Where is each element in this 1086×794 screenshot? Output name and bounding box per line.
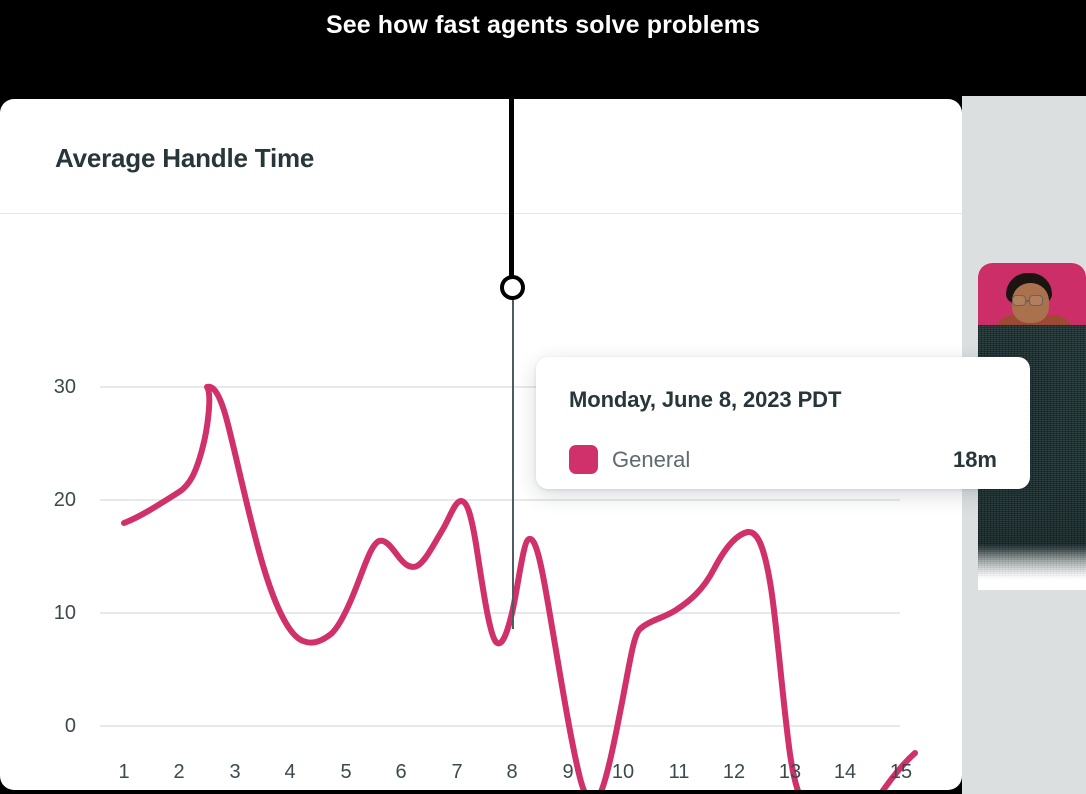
x-tick-14: 14: [825, 762, 865, 782]
x-tick-7: 7: [437, 762, 477, 782]
x-tick-13: 13: [770, 762, 810, 782]
portrait-glasses-right: [1029, 295, 1043, 306]
x-tick-10: 10: [603, 762, 643, 782]
x-tick-5: 5: [326, 762, 366, 782]
agent-portrait: [984, 271, 1080, 333]
chart-card-header: Average Handle Time: [0, 99, 962, 214]
x-tick-9: 9: [548, 762, 588, 782]
photo-bottom-fade: [978, 544, 1086, 590]
screenshot-root: Average Handle Time 30 20 10 0 1 2: [0, 0, 1086, 794]
banner-title: See how fast agents solve problems: [0, 8, 1086, 42]
chart-plot-area[interactable]: 30 20 10 0 1 2 3 4 5 6 7 8 9 10 11 12 13…: [0, 214, 962, 790]
y-tick-30: 30: [20, 377, 76, 397]
tooltip-date: Monday, June 8, 2023 PDT: [569, 387, 841, 413]
x-tick-8: 8: [492, 762, 532, 782]
y-tick-20: 20: [20, 490, 76, 510]
top-banner: See how fast agents solve problems: [0, 0, 1086, 96]
x-tick-2: 2: [159, 762, 199, 782]
annotation-pointer-dot[interactable]: [500, 275, 525, 300]
chart-title: Average Handle Time: [55, 143, 314, 174]
x-tick-11: 11: [659, 762, 699, 782]
line-chart-svg: [0, 214, 962, 790]
tooltip-series-value: 18m: [953, 447, 997, 473]
tooltip-series-label: General: [612, 447, 690, 473]
x-tick-1: 1: [104, 762, 144, 782]
x-tick-3: 3: [215, 762, 255, 782]
portrait-glasses-bridge: [1026, 300, 1030, 302]
x-tick-6: 6: [381, 762, 421, 782]
portrait-glasses-left: [1012, 295, 1026, 306]
chart-tooltip: Monday, June 8, 2023 PDT General 18m: [536, 357, 1030, 489]
y-tick-0: 0: [20, 716, 76, 736]
x-tick-4: 4: [270, 762, 310, 782]
x-tick-15: 15: [881, 762, 921, 782]
x-tick-12: 12: [714, 762, 754, 782]
tooltip-series-swatch: [569, 445, 598, 474]
y-tick-10: 10: [20, 603, 76, 623]
